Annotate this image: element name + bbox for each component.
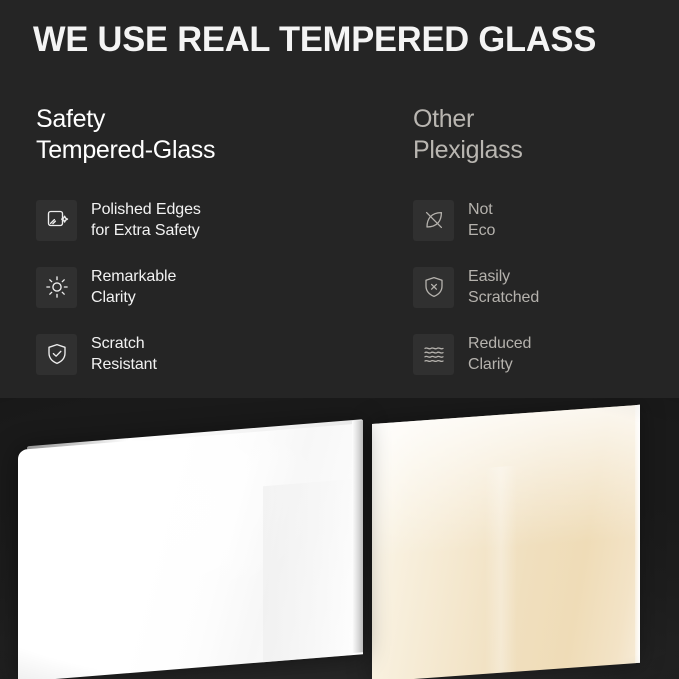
feature-label-scratch-resistant: Scratch Resistant bbox=[91, 333, 157, 375]
tempered-glass-side-edge bbox=[352, 420, 363, 653]
column-safety-tempered-glass: Safety Tempered-Glass Polished Edges for… bbox=[36, 104, 326, 397]
feature-label-polished-edges: Polished Edges for Extra Safety bbox=[91, 199, 201, 241]
product-comparison-photo bbox=[0, 398, 679, 679]
page-title: WE USE REAL TEMPERED GLASS bbox=[33, 20, 644, 60]
wavy-lines-icon bbox=[413, 334, 454, 375]
feature-row-not-eco: Not Eco bbox=[413, 196, 679, 244]
polished-edge-sparkle-icon bbox=[36, 200, 77, 241]
feature-label-not-eco: Not Eco bbox=[468, 199, 495, 241]
shield-check-icon bbox=[36, 334, 77, 375]
feature-label-easily-scratched: Easily Scratched bbox=[468, 266, 539, 308]
feature-label-reduced-clarity: Reduced Clarity bbox=[468, 333, 531, 375]
sun-brightness-icon bbox=[36, 267, 77, 308]
plexiglass-panel-edge bbox=[635, 405, 640, 663]
feature-row-remarkable-clarity: Remarkable Clarity bbox=[36, 263, 326, 311]
feature-label-remarkable-clarity: Remarkable Clarity bbox=[91, 266, 176, 308]
column-heading-left: Safety Tempered-Glass bbox=[36, 104, 326, 166]
column-heading-right: Other Plexiglass bbox=[413, 104, 679, 166]
feature-row-reduced-clarity: Reduced Clarity bbox=[413, 330, 679, 378]
leaf-crossed-out-icon bbox=[413, 200, 454, 241]
shield-x-icon bbox=[413, 267, 454, 308]
comparison-columns: Safety Tempered-Glass Polished Edges for… bbox=[0, 104, 679, 404]
feature-list-left: Polished Edges for Extra Safety bbox=[36, 196, 326, 378]
feature-list-right: Not Eco Easily Scratched bbox=[413, 196, 679, 378]
feature-row-scratch-resistant: Scratch Resistant bbox=[36, 330, 326, 378]
plexiglass-panel bbox=[372, 405, 640, 679]
feature-row-polished-edges: Polished Edges for Extra Safety bbox=[36, 196, 326, 244]
tempered-glass-comparison-infographic: WE USE REAL TEMPERED GLASS Safety Temper… bbox=[0, 0, 679, 679]
tempered-glass-panel bbox=[18, 422, 363, 679]
feature-row-easily-scratched: Easily Scratched bbox=[413, 263, 679, 311]
column-other-plexiglass: Other Plexiglass Not Eco bbox=[413, 104, 679, 397]
